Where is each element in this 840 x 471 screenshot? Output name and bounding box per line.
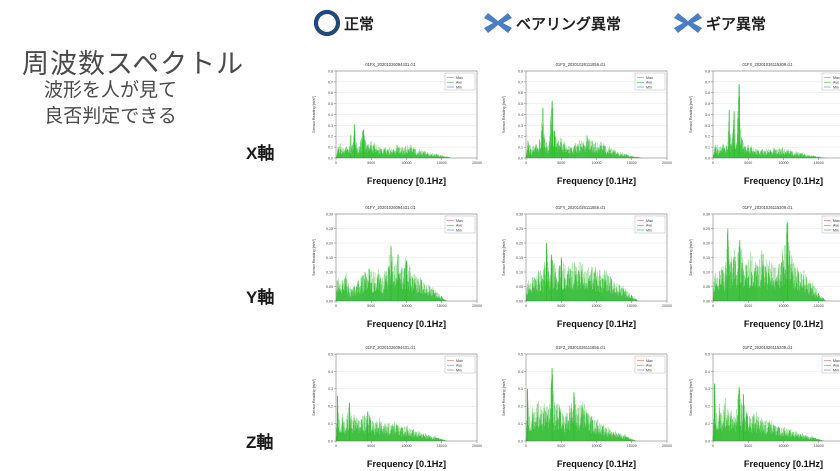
svg-text:0: 0 [525,304,527,308]
spectrum-chart-z-normal: 01FZ_20201026094431.cl10.00.10.20.30.40.… [298,340,483,471]
column-header-bearing-fault: ベアリング異常 [482,6,621,40]
svg-text:Frequency [0.1Hz]: Frequency [0.1Hz] [557,176,636,186]
svg-text:Ave: Ave [646,224,652,228]
svg-text:0.15: 0.15 [326,256,333,260]
svg-text:Ave: Ave [456,224,462,228]
svg-text:Max: Max [833,359,840,363]
svg-text:0.4: 0.4 [705,113,710,117]
svg-text:15000: 15000 [627,444,637,448]
svg-text:0.00: 0.00 [703,299,710,303]
svg-text:0: 0 [525,444,527,448]
svg-text:Max: Max [456,359,463,363]
svg-text:Frequency [0.1Hz]: Frequency [0.1Hz] [744,319,823,329]
svg-text:20000: 20000 [662,161,672,165]
spectrum-chart-y-gear: 01FY_20201026115209.cl10.000.050.100.150… [675,200,840,331]
spectrum-chart-x-gear: 01FX_20201026115209.cl10.00.10.20.30.40.… [675,57,840,188]
svg-text:10000: 10000 [779,304,789,308]
svg-text:20000: 20000 [472,161,482,165]
spectrum-chart-x-normal: 01FX_20201026094431.cl10.00.10.20.30.40.… [298,57,483,188]
svg-text:Min: Min [456,368,462,372]
svg-text:Frequency [0.1Hz]: Frequency [0.1Hz] [367,176,446,186]
svg-text:Max: Max [646,359,653,363]
svg-text:0.8: 0.8 [328,69,333,73]
svg-text:Ave: Ave [833,224,839,228]
svg-text:01FZ_20201026111856.cl1: 01FZ_20201026111856.cl1 [556,345,606,350]
svg-text:20000: 20000 [472,304,482,308]
svg-text:0.4: 0.4 [518,370,523,374]
svg-text:Ave: Ave [456,81,462,85]
svg-text:0.0: 0.0 [705,156,710,160]
svg-text:Sensor Reading [m/s²]: Sensor Reading [m/s²] [502,379,506,416]
svg-text:Max: Max [456,219,463,223]
svg-text:0: 0 [525,161,527,165]
svg-text:15000: 15000 [627,161,637,165]
svg-text:0.0: 0.0 [328,439,333,443]
svg-text:0.7: 0.7 [705,80,710,84]
svg-text:0.5: 0.5 [328,352,333,356]
svg-text:Ave: Ave [833,81,839,85]
svg-text:20000: 20000 [472,444,482,448]
svg-text:0.0: 0.0 [518,156,523,160]
svg-text:Max: Max [833,76,840,80]
svg-text:5000: 5000 [367,161,375,165]
row-label-y-axis: Y軸 [246,283,274,308]
svg-text:Frequency [0.1Hz]: Frequency [0.1Hz] [744,459,823,469]
svg-text:01FZ_20201026094431.cl1: 01FZ_20201026094431.cl1 [365,345,416,350]
svg-text:0.5: 0.5 [705,102,710,106]
svg-text:0.0: 0.0 [328,156,333,160]
svg-text:0.5: 0.5 [328,102,333,106]
spectrum-chart-z-gear: 01FZ_20201026115209.cl10.00.10.20.30.40.… [675,340,840,471]
svg-text:Ave: Ave [646,81,652,85]
svg-text:01FX_20201026111856.cl1: 01FX_20201026111856.cl1 [556,62,606,67]
svg-text:0.2: 0.2 [518,405,523,409]
svg-text:0.30: 0.30 [516,212,523,216]
column-header-label: ベアリング異常 [516,13,621,34]
svg-text:20000: 20000 [662,444,672,448]
svg-text:Frequency [0.1Hz]: Frequency [0.1Hz] [744,176,823,186]
svg-text:0.05: 0.05 [703,285,710,289]
circle-ok-icon [312,8,342,38]
svg-text:0.2: 0.2 [518,135,523,139]
svg-text:0: 0 [712,161,714,165]
svg-text:0.10: 0.10 [516,270,523,274]
svg-text:0.20: 0.20 [326,241,333,245]
svg-text:Sensor Reading [m/s²]: Sensor Reading [m/s²] [689,239,693,276]
svg-text:0: 0 [335,161,337,165]
svg-text:Sensor Reading [m/s²]: Sensor Reading [m/s²] [689,96,693,133]
svg-text:0.1: 0.1 [328,146,333,150]
svg-text:Sensor Reading [m/s²]: Sensor Reading [m/s²] [312,379,316,416]
svg-text:10000: 10000 [402,444,412,448]
svg-text:15000: 15000 [627,304,637,308]
svg-text:0.15: 0.15 [516,256,523,260]
svg-text:0.3: 0.3 [705,387,710,391]
cross-ng-icon [672,8,704,38]
svg-text:01FX_20201026115209.cl1: 01FX_20201026115209.cl1 [742,62,793,67]
svg-text:0.1: 0.1 [328,422,333,426]
svg-text:Min: Min [646,228,652,232]
svg-text:0.00: 0.00 [326,299,333,303]
svg-text:Min: Min [646,85,652,89]
svg-text:Sensor Reading [m/s²]: Sensor Reading [m/s²] [502,96,506,133]
svg-text:15000: 15000 [437,444,447,448]
svg-text:Sensor Reading [m/s²]: Sensor Reading [m/s²] [312,239,316,276]
svg-text:5000: 5000 [367,304,375,308]
svg-text:0.05: 0.05 [326,285,333,289]
svg-text:0.6: 0.6 [328,91,333,95]
svg-text:10000: 10000 [779,161,789,165]
svg-text:0.7: 0.7 [518,80,523,84]
svg-text:Ave: Ave [646,364,652,368]
svg-text:Max: Max [456,76,463,80]
svg-text:15000: 15000 [437,304,447,308]
page-subtitle: 波形を人が見て 良否判定できる [44,78,177,129]
svg-text:0.3: 0.3 [328,387,333,391]
svg-text:Sensor Reading [m/s²]: Sensor Reading [m/s²] [502,239,506,276]
svg-text:Frequency [0.1Hz]: Frequency [0.1Hz] [367,459,446,469]
svg-text:Max: Max [646,219,653,223]
svg-text:Max: Max [646,76,653,80]
svg-text:20000: 20000 [662,304,672,308]
svg-text:5000: 5000 [744,304,752,308]
column-header-normal: 正常 [312,6,374,40]
svg-text:01FY_20201026094431.cl1: 01FY_20201026094431.cl1 [365,205,416,210]
svg-text:Ave: Ave [833,364,839,368]
svg-text:15000: 15000 [814,161,824,165]
svg-text:0.2: 0.2 [705,135,710,139]
svg-text:0.0: 0.0 [705,439,710,443]
svg-text:0: 0 [335,304,337,308]
svg-text:Min: Min [833,368,839,372]
svg-text:0.3: 0.3 [328,124,333,128]
svg-text:01FY_20201026115209.cl1: 01FY_20201026115209.cl1 [742,205,793,210]
svg-text:Sensor Reading [m/s²]: Sensor Reading [m/s²] [689,379,693,416]
svg-text:0.1: 0.1 [705,146,710,150]
svg-text:10000: 10000 [592,161,602,165]
spectrum-chart-y-bearing: 01FY_20201026111856.cl10.000.050.100.150… [488,200,673,331]
spectrum-chart-y-normal: 01FY_20201026094431.cl10.000.050.100.150… [298,200,483,331]
svg-text:Sensor Reading [m/s²]: Sensor Reading [m/s²] [312,96,316,133]
column-header-gear-fault: ギア異常 [672,6,766,40]
svg-text:Min: Min [456,85,462,89]
svg-text:10000: 10000 [779,444,789,448]
svg-text:0.8: 0.8 [705,69,710,73]
svg-text:01FZ_20201026115209.cl1: 01FZ_20201026115209.cl1 [743,345,793,350]
svg-text:0.00: 0.00 [516,299,523,303]
svg-text:0.4: 0.4 [328,370,333,374]
column-header-label: 正常 [344,13,374,34]
svg-text:0.3: 0.3 [518,387,523,391]
svg-text:Frequency [0.1Hz]: Frequency [0.1Hz] [557,459,636,469]
svg-text:10000: 10000 [402,304,412,308]
svg-text:0.1: 0.1 [518,146,523,150]
svg-text:Max: Max [833,219,840,223]
svg-text:0.4: 0.4 [328,113,333,117]
svg-text:5000: 5000 [557,444,565,448]
svg-text:0.2: 0.2 [328,135,333,139]
svg-text:0.7: 0.7 [328,80,333,84]
page-title: 周波数スペクトル [22,42,244,81]
svg-text:0.30: 0.30 [703,212,710,216]
spectrum-chart-z-bearing: 01FZ_20201026111856.cl10.00.10.20.30.40.… [488,340,673,471]
svg-text:10000: 10000 [592,444,602,448]
svg-text:0.4: 0.4 [518,113,523,117]
svg-text:0.10: 0.10 [326,270,333,274]
svg-text:0.1: 0.1 [705,422,710,426]
svg-text:0.1: 0.1 [518,422,523,426]
svg-text:15000: 15000 [814,304,824,308]
svg-text:15000: 15000 [814,444,824,448]
spectrum-chart-x-bearing: 01FX_20201026111856.cl10.00.10.20.30.40.… [488,57,673,188]
svg-text:0.4: 0.4 [705,370,710,374]
svg-text:0.3: 0.3 [518,124,523,128]
svg-text:0.6: 0.6 [705,91,710,95]
svg-text:0.5: 0.5 [705,352,710,356]
svg-text:0.05: 0.05 [516,285,523,289]
svg-text:5000: 5000 [744,161,752,165]
svg-text:0: 0 [712,304,714,308]
row-label-x-axis: X軸 [246,139,274,164]
column-header-label: ギア異常 [706,13,766,34]
svg-text:Min: Min [456,228,462,232]
svg-text:0: 0 [335,444,337,448]
svg-text:5000: 5000 [557,304,565,308]
svg-text:0: 0 [712,444,714,448]
svg-text:15000: 15000 [437,161,447,165]
svg-text:Min: Min [833,228,839,232]
svg-text:0.25: 0.25 [326,227,333,231]
svg-text:10000: 10000 [402,161,412,165]
svg-text:0.20: 0.20 [703,241,710,245]
svg-text:0.2: 0.2 [328,405,333,409]
svg-text:0.6: 0.6 [518,91,523,95]
svg-text:0.3: 0.3 [705,124,710,128]
svg-text:0.10: 0.10 [703,270,710,274]
svg-text:5000: 5000 [744,444,752,448]
svg-text:Min: Min [833,85,839,89]
svg-text:0.8: 0.8 [518,69,523,73]
svg-text:0.25: 0.25 [703,227,710,231]
svg-text:5000: 5000 [367,444,375,448]
cross-ng-icon [482,8,514,38]
svg-text:0.30: 0.30 [326,212,333,216]
svg-text:10000: 10000 [592,304,602,308]
svg-text:01FY_20201026111856.cl1: 01FY_20201026111856.cl1 [556,205,606,210]
svg-text:Frequency [0.1Hz]: Frequency [0.1Hz] [367,319,446,329]
svg-text:0.5: 0.5 [518,352,523,356]
svg-text:Min: Min [646,368,652,372]
svg-text:0.20: 0.20 [516,241,523,245]
svg-text:Frequency [0.1Hz]: Frequency [0.1Hz] [557,319,636,329]
svg-text:0.25: 0.25 [516,227,523,231]
svg-text:0.2: 0.2 [705,405,710,409]
svg-text:01FX_20201026094431.cl1: 01FX_20201026094431.cl1 [365,62,416,67]
svg-text:0.15: 0.15 [703,256,710,260]
svg-text:0.0: 0.0 [518,439,523,443]
row-label-z-axis: Z軸 [246,428,273,453]
svg-text:5000: 5000 [557,161,565,165]
svg-text:Ave: Ave [456,364,462,368]
svg-text:0.5: 0.5 [518,102,523,106]
